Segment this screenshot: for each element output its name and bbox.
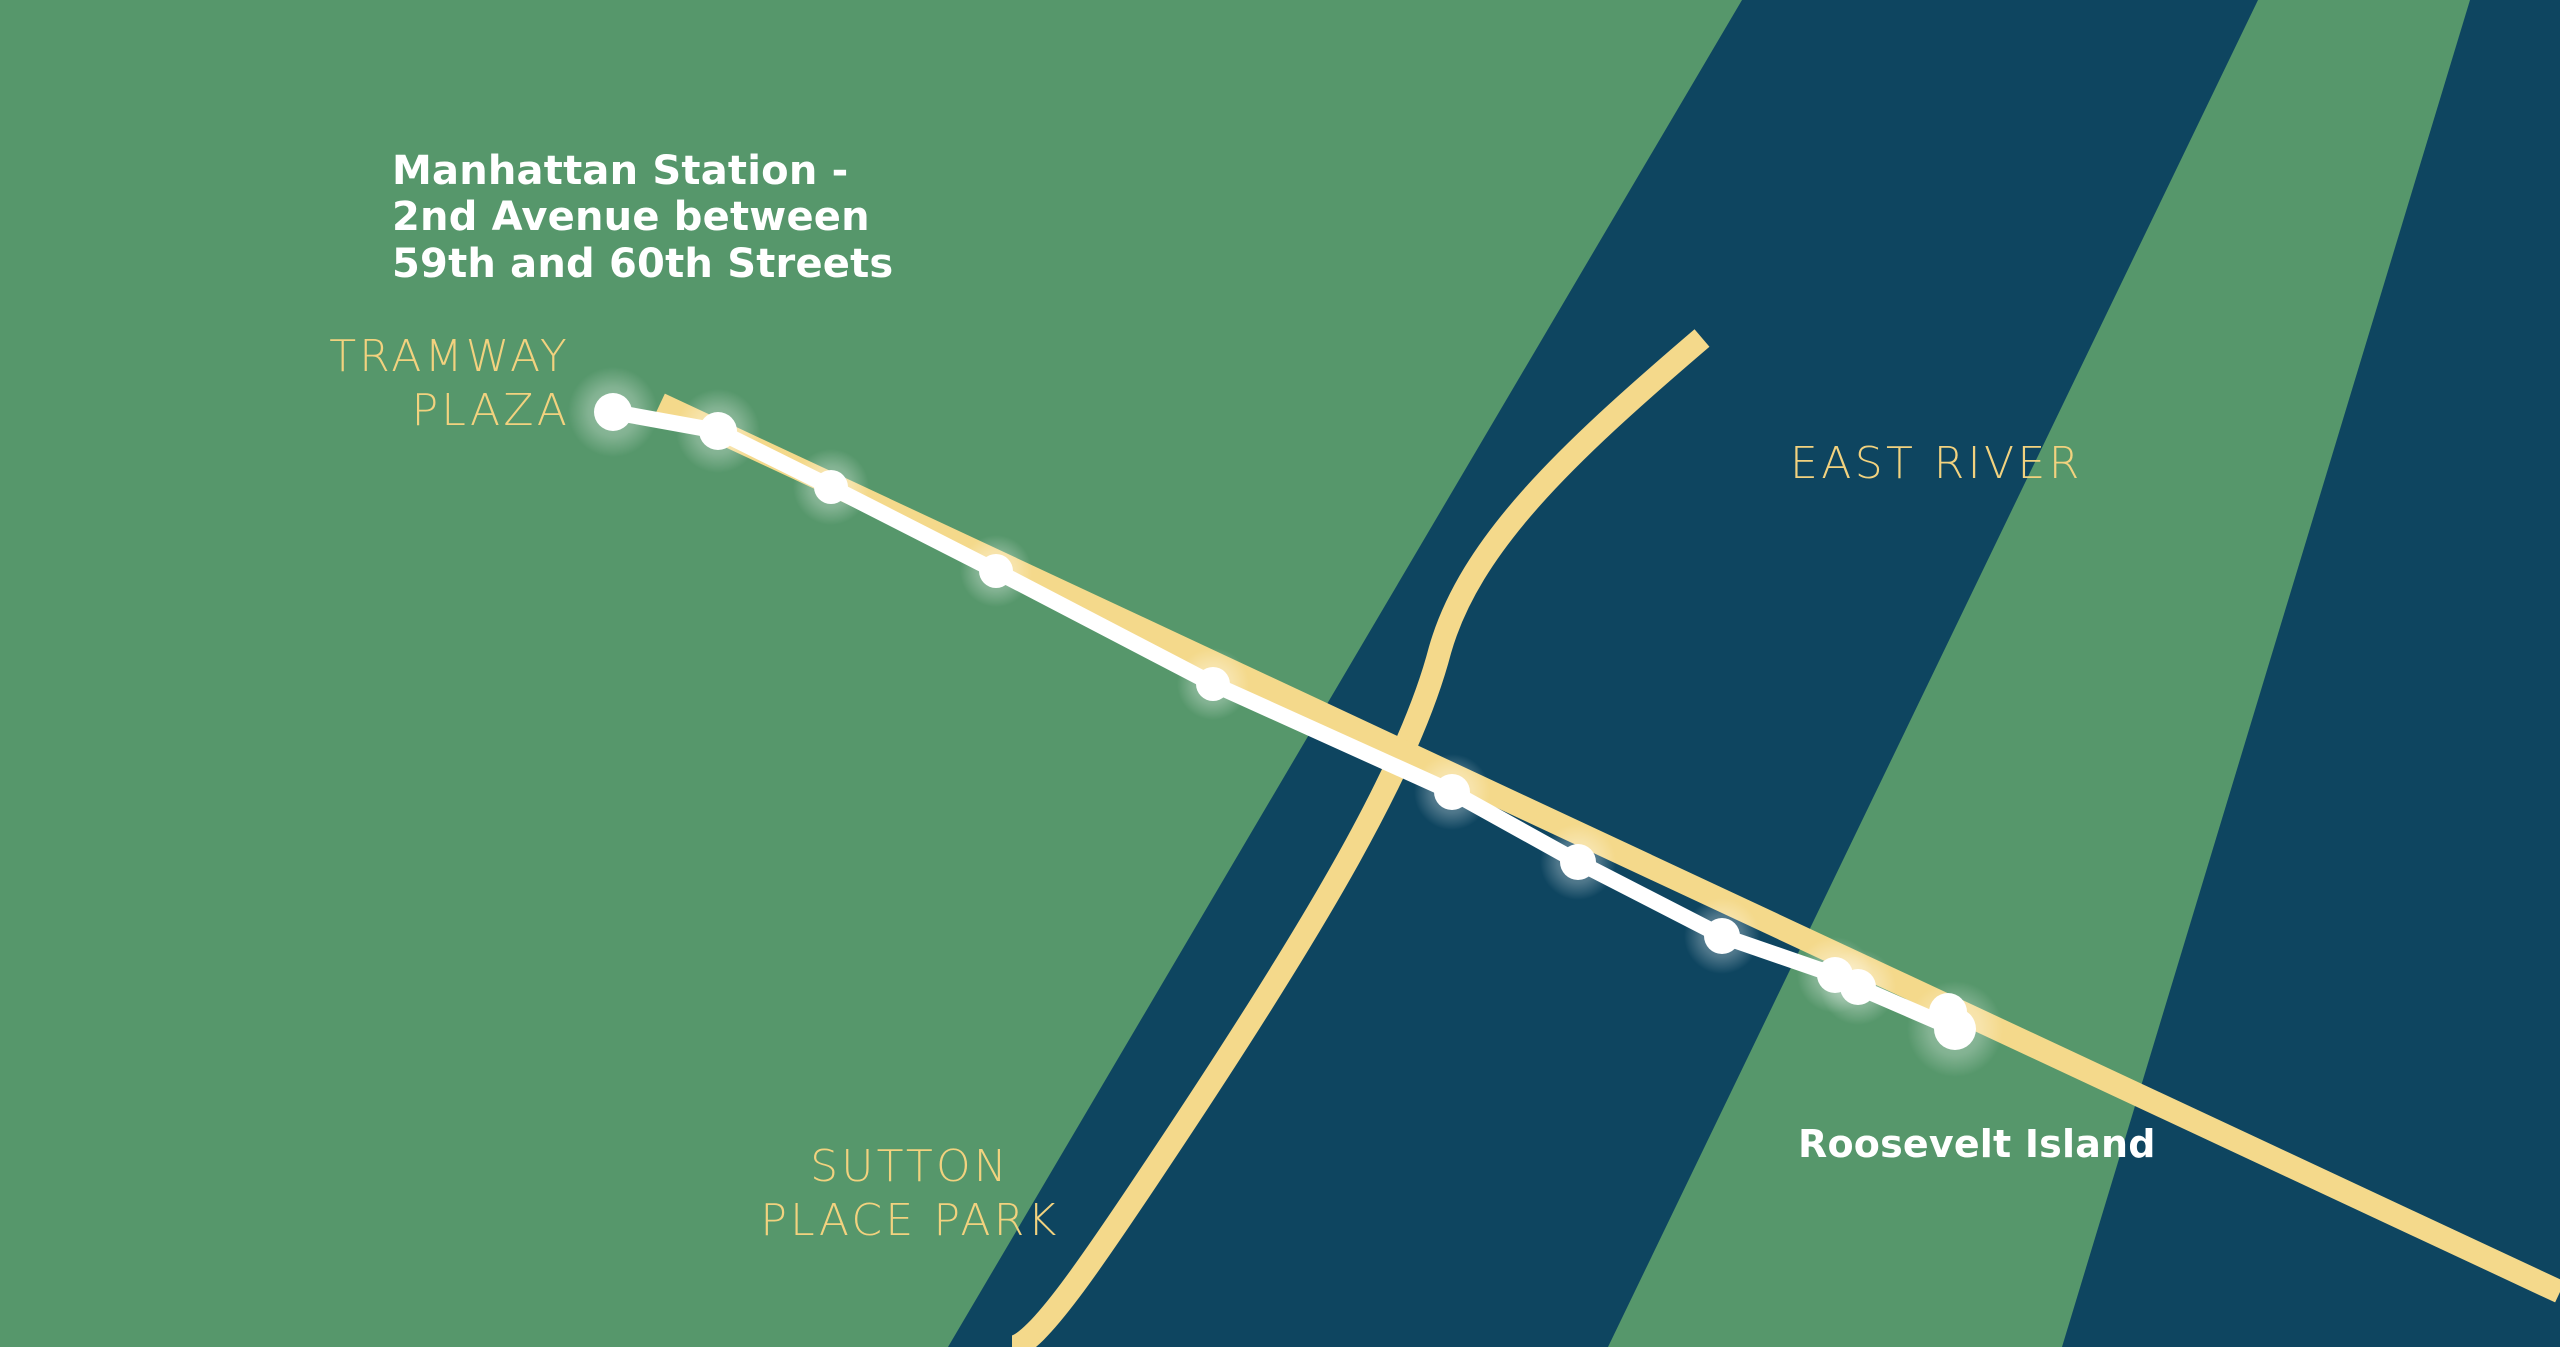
station-dot-tower-3[interactable] <box>979 554 1013 588</box>
station-dot-tower-2[interactable] <box>814 470 848 504</box>
map-graphics-layer <box>0 0 2560 1347</box>
station-dot-tower-7[interactable] <box>1704 918 1740 954</box>
station-dot-tower-4[interactable] <box>1196 667 1230 701</box>
station-dot-roosevelt-island-terminal-secondary[interactable] <box>1929 993 1967 1031</box>
station-dot-tower-5[interactable] <box>1434 774 1470 810</box>
station-dot-tower-6[interactable] <box>1560 844 1596 880</box>
station-dot-tower-1[interactable] <box>699 412 737 450</box>
station-dot-tower-9[interactable] <box>1840 969 1876 1005</box>
tramway-map-canvas: Manhattan Station - 2nd Avenue between 5… <box>0 0 2560 1347</box>
station-dot-tramway-plaza-terminal[interactable] <box>594 393 632 431</box>
